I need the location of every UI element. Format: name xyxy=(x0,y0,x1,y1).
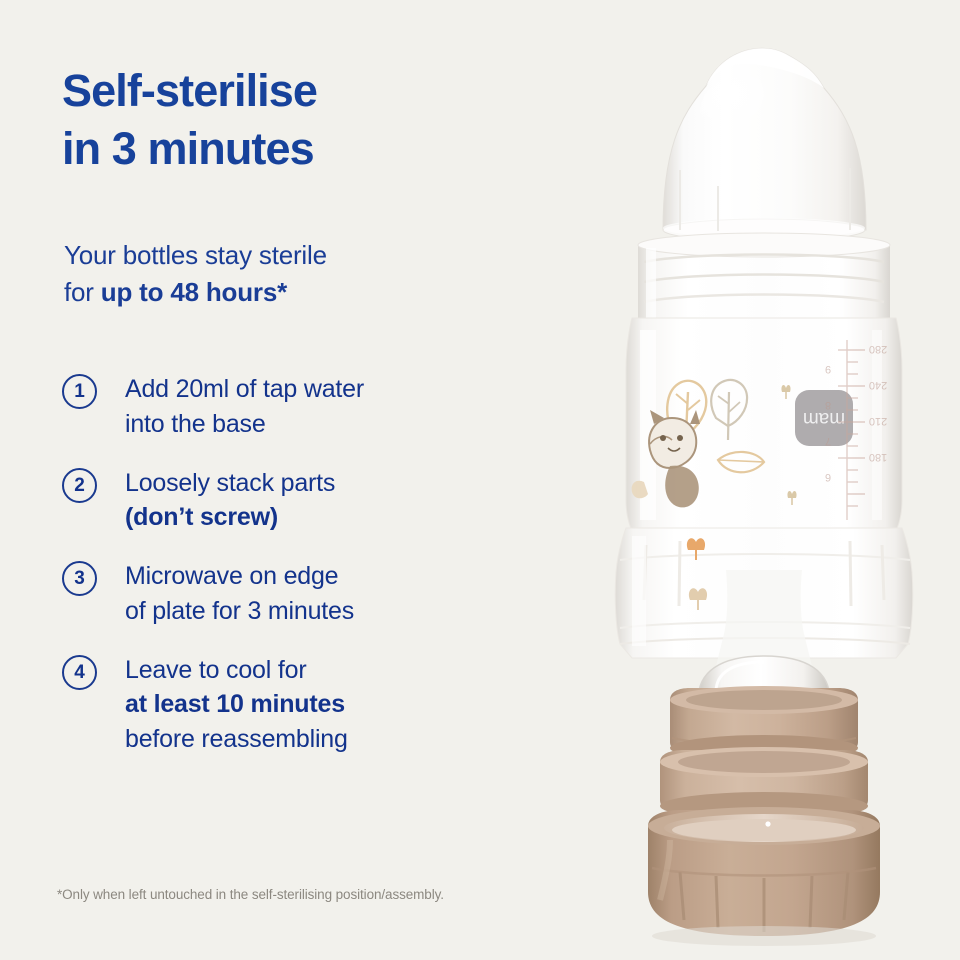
scale-label-ml: 240 xyxy=(869,379,887,391)
footnote: *Only when left untouched in the self-st… xyxy=(57,887,527,902)
step-line: Add 20ml of tap water xyxy=(125,372,512,407)
scale-label-ml: 180 xyxy=(869,451,887,463)
bottle-neck-threads xyxy=(638,233,890,322)
list-item: 3 Microwave on edge of plate for 3 minut… xyxy=(62,559,512,629)
list-item: 2 Loosely stack parts (don’t screw) xyxy=(62,466,512,536)
drop-shadow xyxy=(652,926,876,946)
step-text: Loosely stack parts (don’t screw) xyxy=(125,466,512,536)
step-number-badge: 1 xyxy=(62,374,97,409)
step-line: Microwave on edge xyxy=(125,559,512,594)
infographic-canvas: Self-sterilise in 3 minutes Your bottles… xyxy=(0,0,960,960)
step-line: Leave to cool for xyxy=(125,653,512,688)
subheading-line-2: for up to 48 hours* xyxy=(64,274,484,311)
subheading: Your bottles stay sterile for up to 48 h… xyxy=(64,237,484,311)
subheading-line-1: Your bottles stay sterile xyxy=(64,237,484,274)
step-line: of plate for 3 minutes xyxy=(125,594,512,629)
list-item: 4 Leave to cool for at least 10 minutes … xyxy=(62,653,512,757)
scale-label-oz: 9 xyxy=(825,363,831,375)
step-line-emphasis: at least 10 minutes xyxy=(125,687,512,722)
scale-label-ml: 210 xyxy=(869,415,887,427)
scale-label-oz: 8 xyxy=(825,399,831,411)
bottle-cap-dome xyxy=(663,48,866,241)
step-number-badge: 2 xyxy=(62,468,97,503)
subheading-prefix: for xyxy=(64,277,101,307)
step-number-badge: 4 xyxy=(62,655,97,690)
step-number-badge: 3 xyxy=(62,561,97,596)
page-title: Self-sterilise in 3 minutes xyxy=(62,62,492,178)
water-base-bowl xyxy=(648,807,880,936)
step-line: into the base xyxy=(125,407,512,442)
text-column: Self-sterilise in 3 minutes Your bottles… xyxy=(0,0,540,960)
step-text: Add 20ml of tap water into the base xyxy=(125,372,512,442)
step-text: Microwave on edge of plate for 3 minutes xyxy=(125,559,512,629)
headline-line-2: in 3 minutes xyxy=(62,120,492,178)
list-item: 1 Add 20ml of tap water into the base xyxy=(62,372,512,442)
scale-label-oz: 6 xyxy=(825,471,831,483)
bottle-vented-base xyxy=(615,528,913,666)
headline-line-1: Self-sterilise xyxy=(62,62,492,120)
product-photo: mam xyxy=(520,0,960,960)
scale-label-ml: 280 xyxy=(869,343,887,355)
scale-label-oz: 7 xyxy=(825,435,831,447)
subheading-emphasis: up to 48 hours* xyxy=(101,277,287,307)
step-line: before reassembling xyxy=(125,722,512,757)
steps-list: 1 Add 20ml of tap water into the base 2 … xyxy=(62,372,512,781)
mam-logo: mam xyxy=(795,390,853,446)
step-line-emphasis: (don’t screw) xyxy=(125,500,512,535)
step-text: Leave to cool for at least 10 minutes be… xyxy=(125,653,512,757)
step-line: Loosely stack parts xyxy=(125,466,512,501)
mam-logo-text: mam xyxy=(803,408,845,429)
